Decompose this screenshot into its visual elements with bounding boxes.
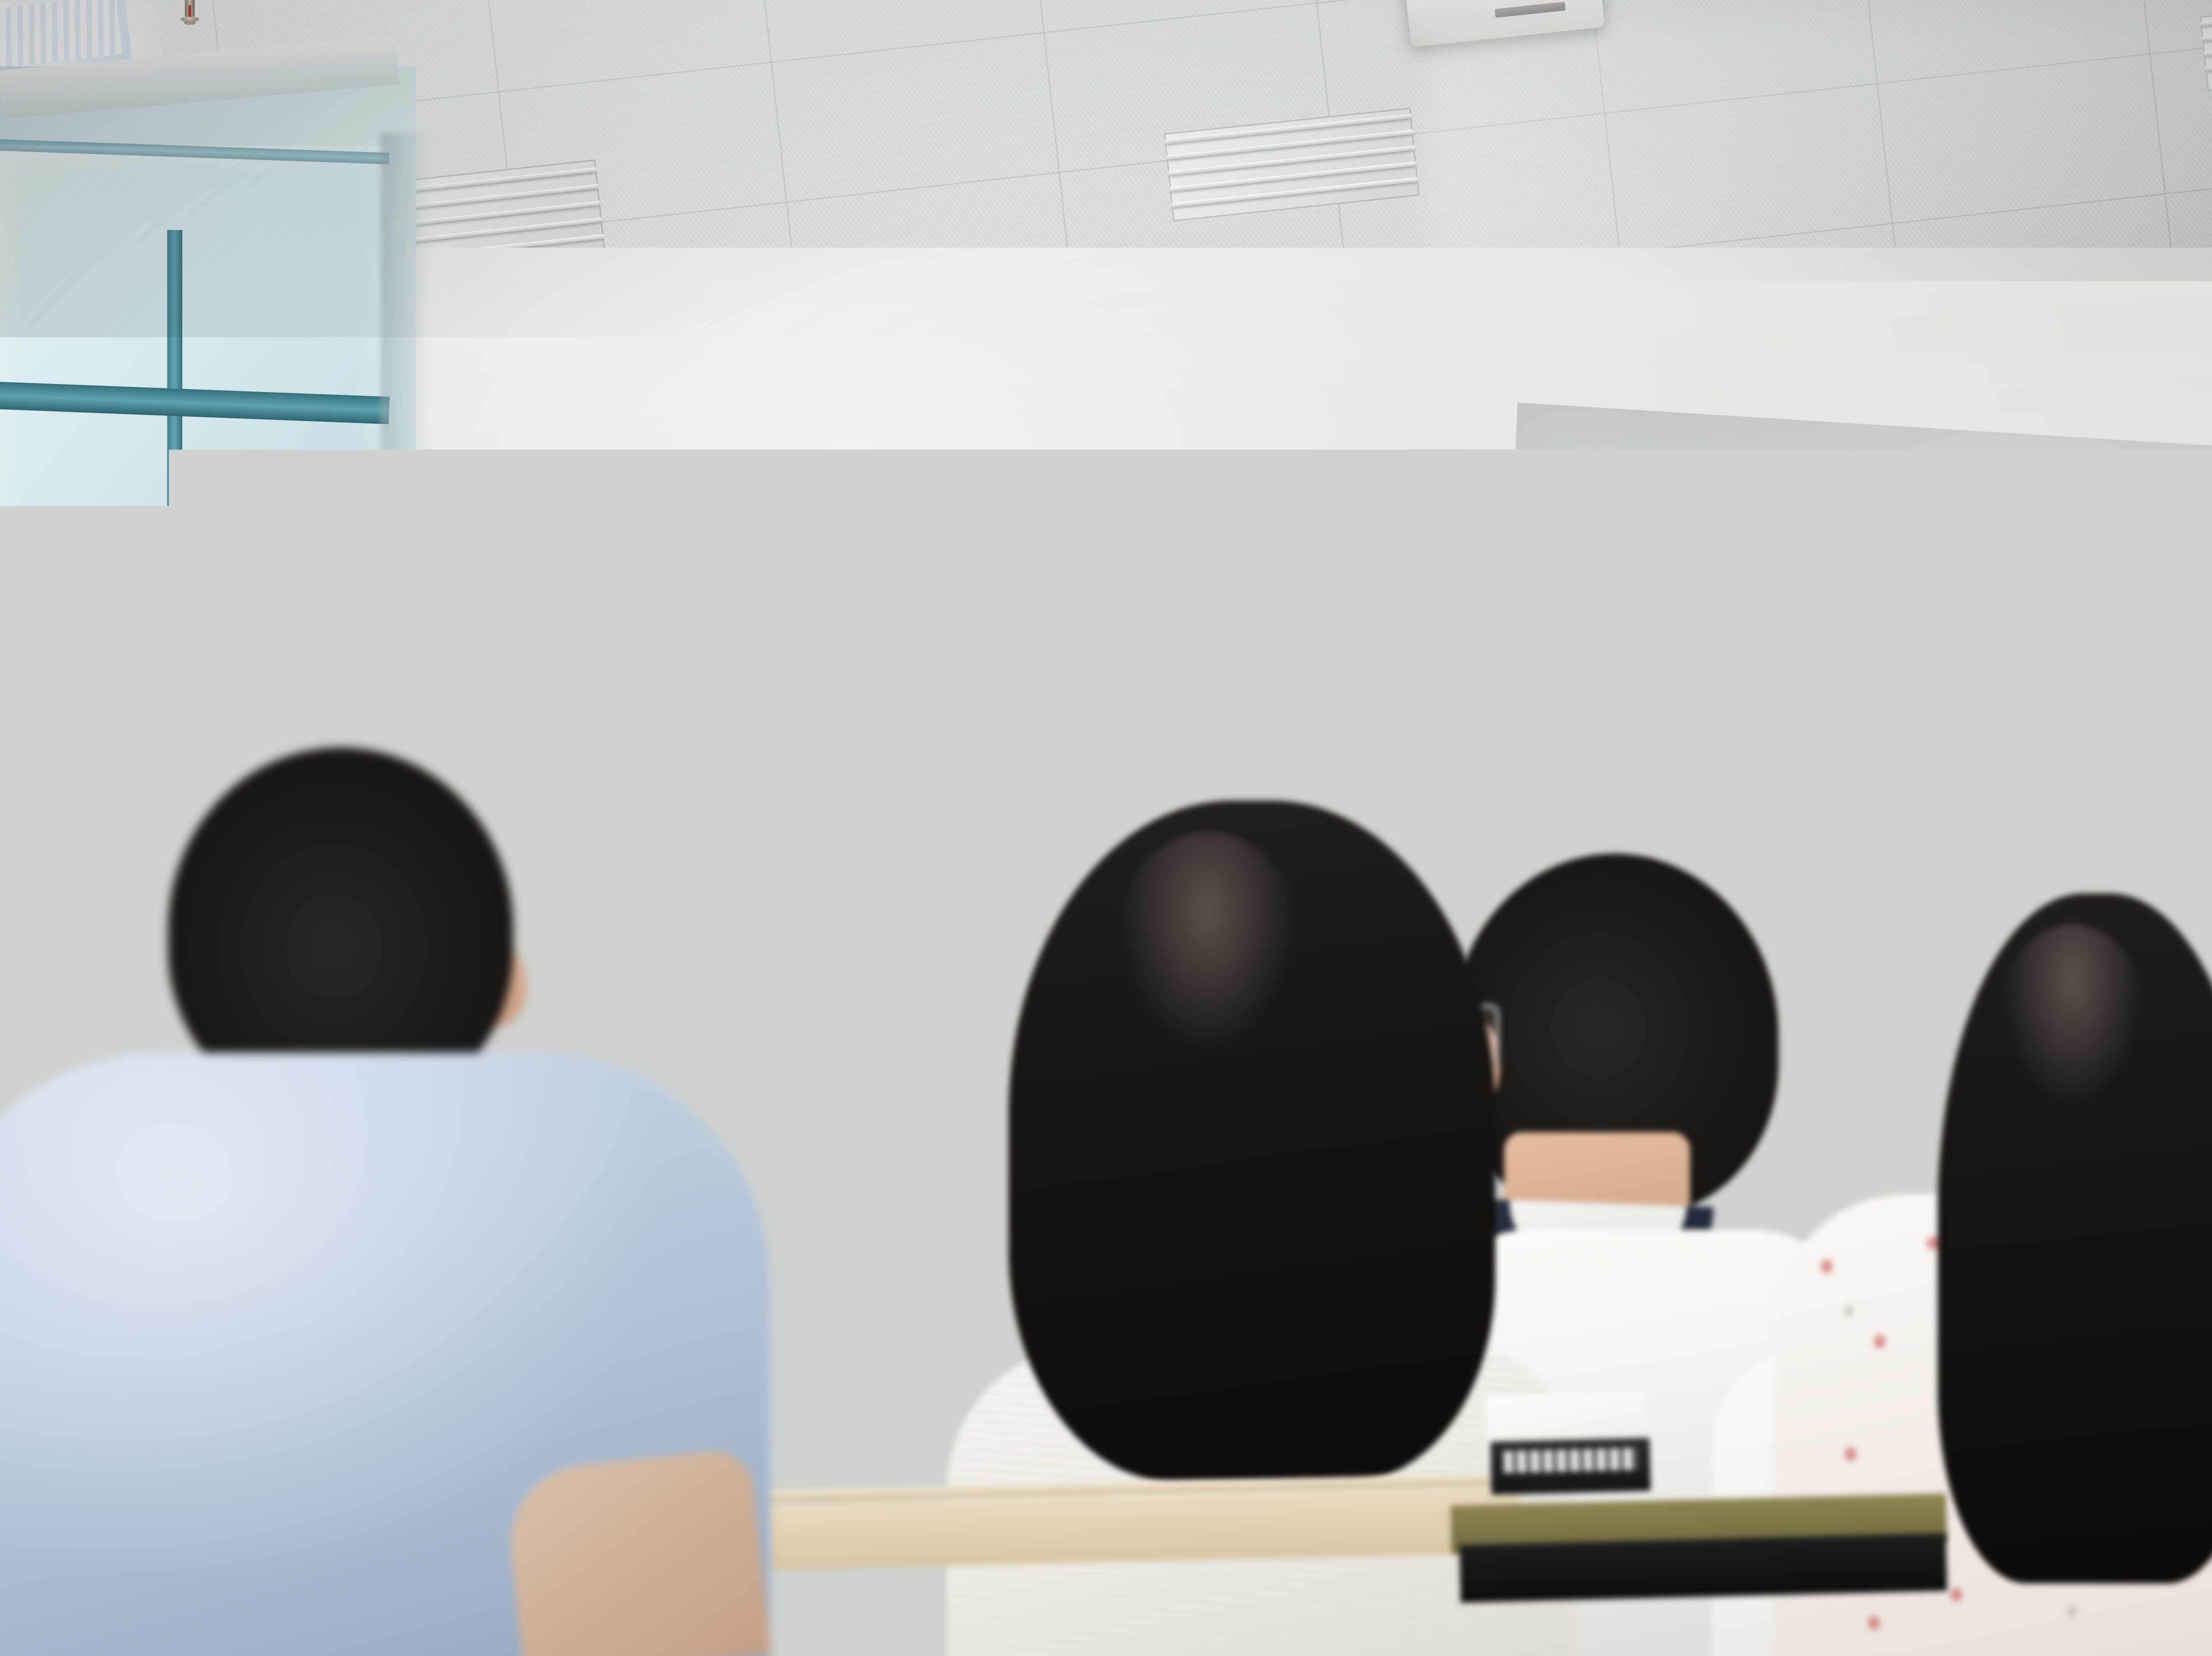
slide-line-2: 有心，还要有技巧。 [1781,810,2212,916]
presenter-mouth [818,789,859,809]
window-mullion-vertical [167,230,182,787]
ac-indicator-led [565,951,573,958]
ac-indicator-led [541,948,549,954]
presenter-glasses-icon [777,726,910,763]
gem-diamond-icon [1618,497,1666,545]
binder-clip-icon [113,902,131,921]
eyeglasses-icon [1003,1586,1368,1656]
slide-line-1: 沟通从心开始。 [1785,707,2212,813]
hair-highlight [1115,832,1301,1062]
company-logo-lockup: 丽天防水 ® LIVESKY WATERPROOF [1618,496,1857,558]
laptop: HUAWEI [796,910,987,1001]
fire-sprinkler-icon [178,0,202,32]
hair-highlight [2000,924,2146,1110]
frosted-window [0,146,385,774]
laptop-brand-label: HUAWEI [862,967,921,982]
photo-scene: 丽天防水 ® LIVESKY WATERPROOF 沟通从心开始。 有心，还要有… [0,0,2212,1656]
projector-lens [1543,0,1583,1]
dark-keyboard-device [1490,1438,1651,1495]
registered-trademark-icon: ® [1726,504,1734,514]
paper-sheet [826,1508,1041,1601]
